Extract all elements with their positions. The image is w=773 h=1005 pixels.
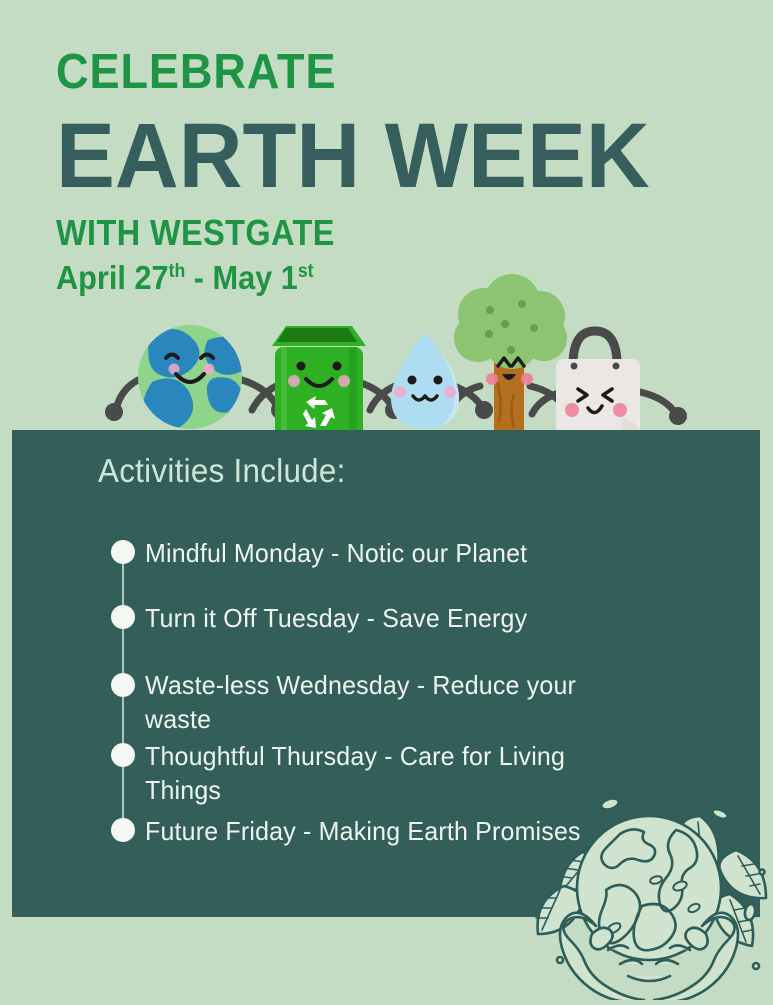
timeline-bullet	[111, 743, 135, 767]
character-row	[0, 262, 773, 447]
eyebrow-text: CELEBRATE	[56, 48, 663, 97]
page-title: EARTH WEEK	[56, 111, 690, 201]
earth-globe-character	[138, 325, 251, 432]
bin-eye-left-icon	[297, 362, 306, 371]
list-item: Thoughtful Thursday - Care for Living Th…	[145, 739, 635, 808]
list-item: Future Friday - Making Earth Promises	[145, 814, 596, 848]
activities-heading: Activities Include:	[98, 452, 346, 490]
list-item: Waste-less Wednesday - Reduce your waste	[145, 668, 596, 737]
list-item: Turn it Off Tuesday - Save Energy	[145, 601, 596, 635]
bin-eye-right-icon	[333, 362, 342, 371]
droplet-eye-right-icon	[434, 376, 443, 385]
tree-canopy	[454, 274, 567, 369]
timeline-bullet	[111, 540, 135, 564]
timeline-bullet	[111, 673, 135, 697]
list-item: Mindful Monday - Notic our Planet	[145, 536, 596, 570]
activities-panel: Activities Include: Mindful Monday - Not…	[12, 430, 760, 917]
timeline-bullet	[111, 605, 135, 629]
timeline-bullet	[111, 818, 135, 842]
poster-header: CELEBRATE EARTH WEEK WITH WESTGATE April…	[56, 48, 716, 294]
water-droplet-character	[391, 332, 459, 428]
tree-character	[454, 274, 567, 447]
hands	[560, 913, 738, 1000]
poster-canvas: CELEBRATE EARTH WEEK WITH WESTGATE April…	[0, 0, 773, 1000]
droplet-eye-left-icon	[408, 376, 417, 385]
subtitle-text: WITH WESTGATE	[56, 215, 650, 251]
recycling-bin-character	[272, 326, 366, 447]
